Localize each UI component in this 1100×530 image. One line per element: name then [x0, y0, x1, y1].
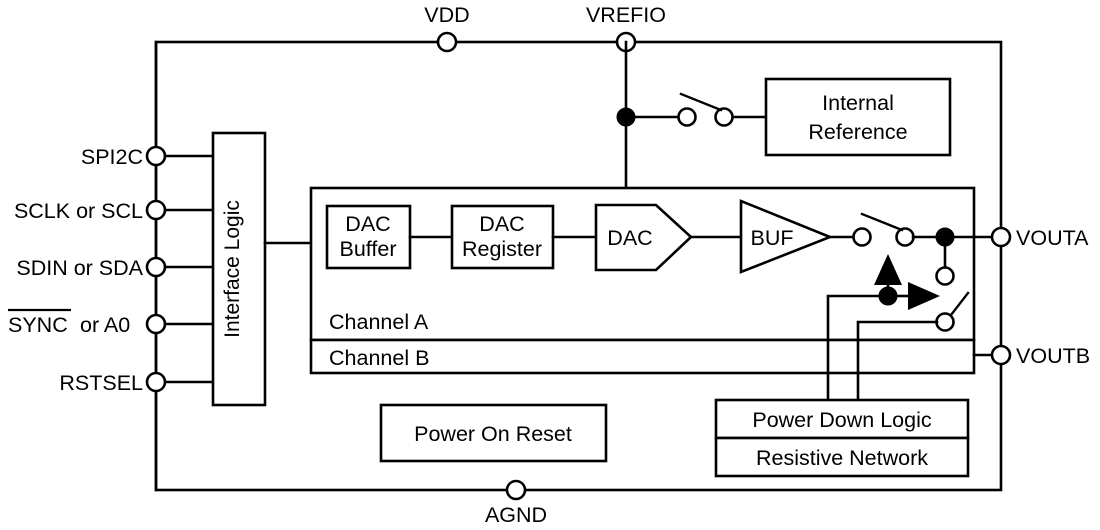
- block-internal-reference-line1: Internal: [822, 91, 894, 115]
- switch-resistive-upper-terminal[interactable]: [937, 268, 954, 285]
- pin-rstsel-terminal[interactable]: [147, 373, 165, 391]
- pin-vouta-terminal[interactable]: [992, 228, 1010, 246]
- block-internal-reference-line2: Reference: [808, 120, 907, 144]
- switch-internal-reference-right-terminal[interactable]: [716, 109, 733, 126]
- functional-block-diagram: VDD VREFIO Internal Reference SPI2C SCLK…: [0, 0, 1100, 530]
- block-dac-buffer-line1: DAC: [345, 212, 390, 236]
- pin-label-sync: SYNC: [8, 313, 68, 337]
- pin-label-vdd: VDD: [424, 3, 469, 27]
- block-resistive-network-label: Resistive Network: [756, 446, 928, 470]
- block-power-down-logic-label: Power Down Logic: [752, 408, 932, 432]
- pin-sclk-scl-terminal[interactable]: [147, 201, 165, 219]
- block-channel-a-label: Channel A: [329, 310, 429, 334]
- switch-vouta-right-terminal[interactable]: [897, 229, 914, 246]
- pin-spi2c-terminal[interactable]: [147, 147, 165, 165]
- block-power-on-reset-label: Power On Reset: [414, 422, 572, 446]
- pin-sdin-sda-terminal[interactable]: [147, 258, 165, 276]
- pin-agnd-terminal[interactable]: [507, 481, 525, 499]
- pin-label-rstsel: RSTSEL: [59, 371, 143, 395]
- pin-label-agnd: AGND: [485, 503, 547, 527]
- block-interface-logic-label: Interface Logic: [221, 200, 244, 338]
- pin-label-sclk-scl: SCLK or SCL: [14, 199, 143, 223]
- block-dac-buffer-line2: Buffer: [340, 237, 397, 261]
- switch-internal-reference-left-terminal[interactable]: [679, 109, 696, 126]
- block-dac-label: DAC: [607, 226, 652, 250]
- pin-voutb-terminal[interactable]: [992, 346, 1010, 364]
- block-dac-register-line2: Register: [462, 237, 542, 261]
- block-channel-b-label: Channel B: [329, 346, 429, 370]
- pin-label-voutb: VOUTB: [1016, 344, 1090, 368]
- pin-label-vrefio: VREFIO: [586, 3, 666, 27]
- pin-vdd-terminal[interactable]: [438, 33, 456, 51]
- pin-sync-a0-terminal[interactable]: [147, 315, 165, 333]
- pin-label-vouta: VOUTA: [1016, 226, 1089, 250]
- block-buf-label: BUF: [751, 226, 794, 250]
- pin-label-sdin-sda: SDIN or SDA: [16, 256, 143, 280]
- switch-vouta-left-terminal[interactable]: [854, 229, 871, 246]
- pin-label-sync-suffix: or A0: [80, 313, 130, 337]
- block-diagram-root: VDD VREFIO Internal Reference SPI2C SCLK…: [0, 0, 1100, 530]
- block-dac-register-line1: DAC: [479, 212, 524, 236]
- pin-label-spi2c: SPI2C: [81, 145, 143, 169]
